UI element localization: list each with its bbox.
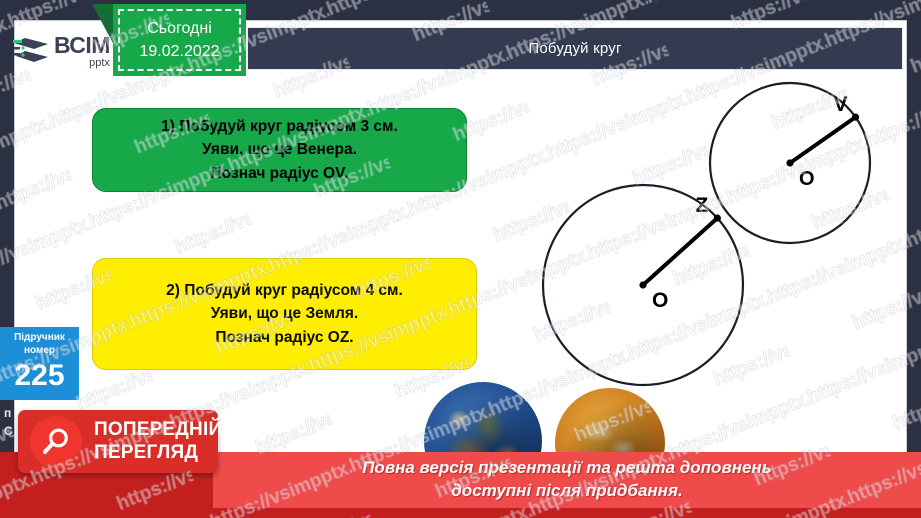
earth-center-dot <box>639 281 646 288</box>
preview-label-line-1: ПОПЕРЕДНІЙ <box>94 418 222 441</box>
task-1-line-2: Уяви, що це Венера. <box>202 138 357 161</box>
venus-center-dot <box>786 159 793 166</box>
venus-center-label: O <box>799 168 815 190</box>
circles-diagram: O V O Z <box>500 80 910 420</box>
promo-banner-line-1: Повна версія презентації та решта доповн… <box>362 457 772 480</box>
task-2-line-2: Уяви, що це Земля. <box>211 302 358 325</box>
textbook-badge-number: 225 <box>14 361 64 391</box>
task-card-2: 2) Побудуй круг радіусом 4 см. Уяви, що … <box>92 258 477 370</box>
task-card-1: 1) Побудуй круг радіусом 3 см. Уяви, що … <box>92 108 467 192</box>
earth-point-label: Z <box>695 194 708 217</box>
banner-footer-strip <box>0 508 921 518</box>
task-1-line-3: Познач радіус OV. <box>211 162 349 185</box>
logo-title: ВСІМ <box>54 34 110 57</box>
venus-circle-group: O V <box>710 83 870 243</box>
promo-banner-line-2: доступні після придбання. <box>451 480 682 503</box>
venus-point-dot <box>852 114 859 121</box>
date-badge: Сьогодні 19.02.2022 <box>113 4 246 76</box>
slide-canvas: ВСІМ pptx Сьогодні 19.02.2022 Побудуй кр… <box>0 0 921 518</box>
venus-point-label: V <box>834 93 848 116</box>
task-2-line-3: Познач радіус OZ. <box>215 326 353 349</box>
textbook-badge-line-1: Підручник <box>14 332 65 345</box>
earth-center-label: O <box>652 289 668 312</box>
textbook-number-badge: Підручник номер 225 <box>0 327 79 400</box>
date-badge-label: Сьогодні <box>147 17 212 40</box>
magnifier-icon <box>39 425 73 459</box>
earth-circle-group: O Z <box>543 185 743 385</box>
preview-label-line-2: ПЕРЕГЛЯД <box>94 441 222 464</box>
preview-overlay-labels: ПОПЕРЕДНІЙ ПЕРЕГЛЯД <box>94 418 222 464</box>
graduation-cap-icon <box>12 34 50 68</box>
logo-subtitle: pptx <box>54 58 110 69</box>
task-2-line-1: 2) Побудуй круг радіусом 4 см. <box>166 279 403 302</box>
slide-header: Побудуй круг <box>247 27 903 70</box>
task-1-line-1: 1) Побудуй круг радіусом 3 см. <box>161 115 398 138</box>
venus-radius-line <box>790 117 856 163</box>
promo-banner: Повна версія презентації та решта доповн… <box>213 452 921 508</box>
earth-radius-line <box>643 218 717 285</box>
preview-overlay-button[interactable]: ПОПЕРЕДНІЙ ПЕРЕГЛЯД <box>18 410 218 473</box>
page-title: Побудуй круг <box>528 40 621 57</box>
textbook-badge-line-2: номер <box>24 345 55 358</box>
preview-icon-circle <box>30 416 82 468</box>
date-badge-value: 19.02.2022 <box>139 40 219 63</box>
earth-point-dot <box>714 214 721 221</box>
brand-logo[interactable]: ВСІМ pptx <box>12 28 120 74</box>
